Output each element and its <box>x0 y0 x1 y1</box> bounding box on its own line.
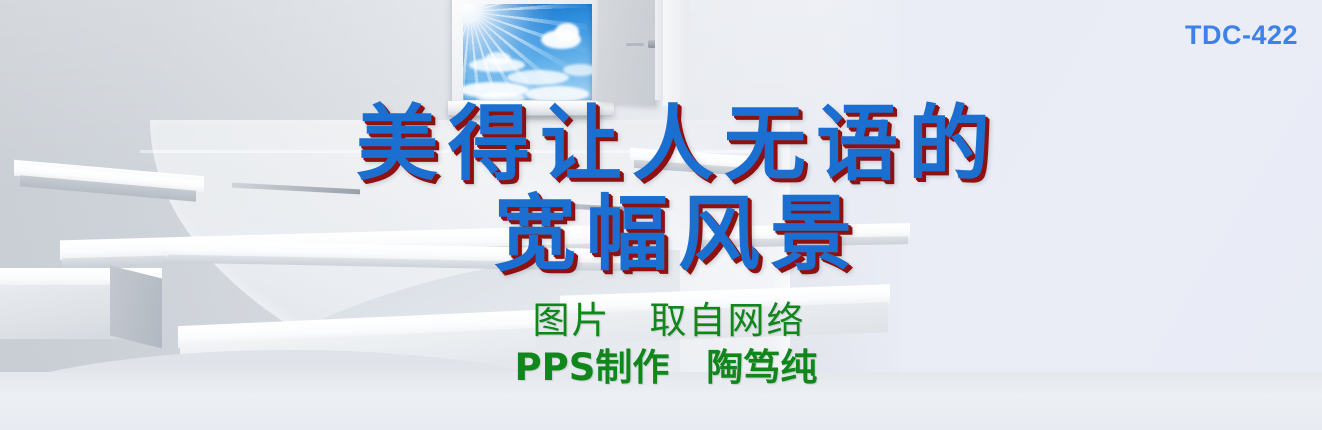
presentation-slide: TDC-422 美得让人无语的 宽幅风景 图片 取自网络 PPS制作 陶笃纯 <box>0 0 1322 430</box>
deck-code-label: TDC-422 <box>1185 20 1298 51</box>
subtitle-line-credit-source: 图片 取自网络 <box>0 298 1322 343</box>
slide-title: 美得让人无语的 宽幅风景 <box>0 96 1322 282</box>
slide-content: TDC-422 美得让人无语的 宽幅风景 图片 取自网络 PPS制作 陶笃纯 <box>0 0 1322 430</box>
title-line-1: 美得让人无语的 <box>0 96 1322 192</box>
subtitle-line-credit-author: PPS制作 陶笃纯 <box>0 344 1322 391</box>
slide-subtitle: 图片 取自网络 PPS制作 陶笃纯 <box>0 298 1322 391</box>
title-line-2: 宽幅风景 <box>0 186 1322 282</box>
